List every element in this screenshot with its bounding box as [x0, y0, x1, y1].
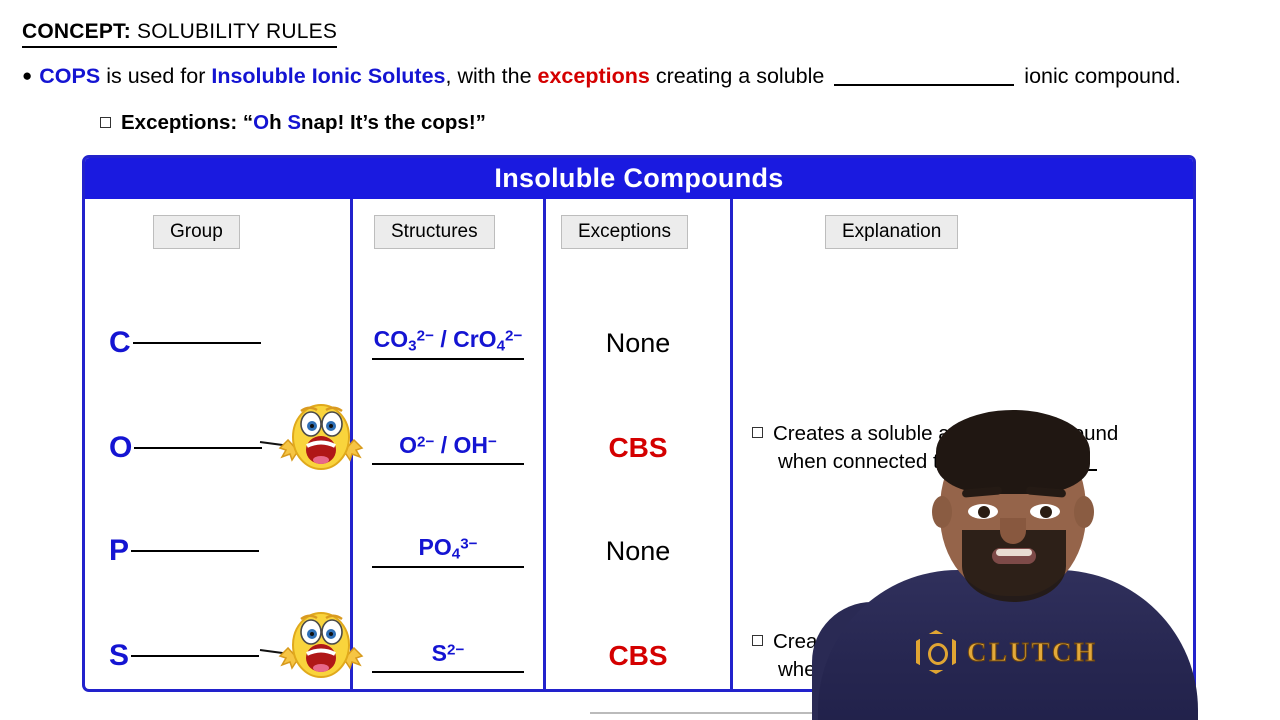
square-bullet-icon [100, 117, 111, 128]
column-header-group: Group [153, 215, 240, 249]
presenter-teeth [996, 549, 1032, 556]
group-blank-line [131, 550, 259, 552]
column-header-exceptions: Exceptions [561, 215, 688, 249]
structure-blank-line [372, 358, 524, 360]
group-blank-line [133, 342, 261, 344]
concept-title: SOLUBILITY RULES [137, 20, 337, 43]
group-letter: O [109, 431, 132, 465]
structure-formula: O2− / OH− [399, 432, 497, 459]
cell-group: P [109, 501, 349, 601]
presenter-pupil-left [978, 506, 990, 518]
cell-exception: None [546, 293, 730, 393]
mnemonic-letter-s: S [287, 111, 301, 134]
cell-group: S [109, 606, 349, 692]
table-header-bar: Insoluble Compounds [85, 158, 1193, 199]
group-blank-line [131, 655, 259, 657]
bullet-text-3: creating a soluble [650, 64, 830, 88]
mnemonic-letter-o: O [253, 111, 269, 134]
cops-acronym: COPS [39, 64, 100, 88]
clutch-logo: CLUTCH [916, 630, 1098, 674]
cell-exception: None [546, 501, 730, 601]
cell-group: O [109, 398, 349, 498]
bullet-text-1: is used for [100, 64, 211, 88]
square-bullet-icon [752, 427, 763, 438]
group-letter: C [109, 326, 131, 360]
brand-name: CLUTCH [967, 637, 1098, 668]
structure-formula: S2− [432, 640, 465, 667]
group-letter: S [109, 639, 129, 673]
cell-structure: CO32− / CrO42− [353, 293, 543, 393]
cell-structure: PO43− [353, 501, 543, 601]
cell-group: C [109, 293, 349, 393]
page-title: CONCEPT: SOLUBILITY RULES [22, 20, 337, 48]
cell-structure: O2− / OH− [353, 398, 543, 498]
group-blank-line [134, 447, 262, 449]
presenter-video-overlay: CLUTCH [812, 392, 1202, 720]
fill-blank-line [834, 84, 1014, 86]
cell-exception: CBS [546, 606, 730, 692]
structure-blank-line [372, 566, 524, 568]
insoluble-ionic-solutes: Insoluble Ionic Solutes [211, 64, 445, 88]
presenter-pupil-right [1040, 506, 1052, 518]
presenter-ear-right [1074, 496, 1094, 528]
square-bullet-icon [752, 635, 763, 646]
hexagon-benzene-icon [916, 630, 956, 674]
bullet-dot-icon: ● [22, 66, 32, 85]
cell-exception: CBS [546, 398, 730, 498]
mnemonic-oh: h [269, 111, 287, 134]
cell-structure: S2− [353, 606, 543, 692]
group-letter: P [109, 534, 129, 568]
structure-formula: CO32− / CrO42− [374, 326, 523, 354]
presenter-ear-left [932, 496, 952, 528]
exceptions-emphasis: exceptions [538, 64, 650, 88]
slide-root: CONCEPT: SOLUBILITY RULES ●COPS is used … [0, 0, 1280, 720]
table-row: CCO32− / CrO42−None [85, 293, 1193, 393]
column-header-structures: Structures [374, 215, 495, 249]
table-title: Insoluble Compounds [494, 163, 783, 194]
presenter-hair [936, 410, 1090, 494]
bullet-sub: Exceptions: “Oh Snap! It’s the cops!” [100, 111, 486, 135]
structure-blank-line [372, 671, 524, 673]
concept-label: CONCEPT: [22, 20, 131, 43]
mnemonic-rest: nap! It’s the cops!” [301, 111, 486, 134]
structure-formula: PO43− [419, 534, 478, 562]
exceptions-label: Exceptions: [121, 111, 237, 134]
bullet-main: ●COPS is used for Insoluble Ionic Solute… [22, 64, 1181, 89]
column-header-explanation: Explanation [825, 215, 958, 249]
presenter-nose [1000, 518, 1026, 544]
structure-blank-line [372, 463, 524, 465]
quote-open: “ [237, 111, 253, 134]
bullet-text-2: , with the [446, 64, 538, 88]
bullet-text-4: ionic compound. [1018, 64, 1181, 88]
